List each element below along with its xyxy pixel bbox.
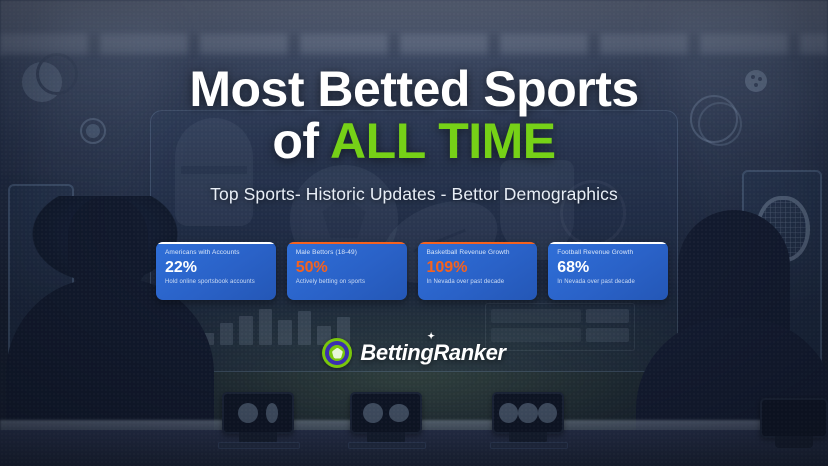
title-line-2: of ALL TIME — [0, 116, 828, 168]
stat-card-sublabel: Actively betting on sports — [296, 279, 398, 286]
page-title: Most Betted Sports of ALL TIME — [0, 64, 828, 167]
page-subtitle: Top Sports- Historic Updates - Bettor De… — [0, 184, 828, 205]
stat-card-value: 22% — [165, 259, 267, 277]
stat-card-label: Basketball Revenue Growth — [427, 249, 529, 257]
stat-card-value: 109% — [427, 259, 529, 277]
stat-card-list: Americans with Accounts 22% Hold online … — [156, 242, 668, 300]
stat-card-sublabel: Hold online sportsbook accounts — [165, 279, 267, 286]
title-line-2-prefix: of — [272, 113, 330, 169]
brand-name-part2: Ranker — [433, 340, 505, 365]
title-line-1: Most Betted Sports — [189, 61, 638, 117]
brand-logo[interactable]: BettingRanker — [0, 338, 828, 368]
stat-card-label: Football Revenue Growth — [557, 249, 659, 257]
brand-logo-text: BettingRanker — [360, 340, 505, 366]
stat-card[interactable]: Americans with Accounts 22% Hold online … — [156, 242, 276, 300]
stat-card[interactable]: Basketball Revenue Growth 109% In Nevada… — [418, 242, 538, 300]
stat-card-sublabel: In Nevada over past decade — [427, 279, 529, 286]
infographic-stage: Most Betted Sports of ALL TIME Top Sport… — [0, 0, 828, 466]
stat-card-label: Male Bettors (18-49) — [296, 249, 398, 257]
stat-card[interactable]: Male Bettors (18-49) 50% Actively bettin… — [287, 242, 407, 300]
stat-card[interactable]: Football Revenue Growth 68% In Nevada ov… — [548, 242, 668, 300]
brand-name-part1: Betting — [360, 340, 433, 365]
bettingranker-circle-logo-icon — [322, 338, 352, 368]
stat-card-label: Americans with Accounts — [165, 249, 267, 257]
title-line-2-accent: ALL TIME — [330, 113, 556, 169]
stat-card-value: 50% — [296, 259, 398, 277]
stat-card-value: 68% — [557, 259, 659, 277]
logo-pentagon-core — [332, 348, 343, 359]
foreground-content: Most Betted Sports of ALL TIME Top Sport… — [0, 0, 828, 466]
stat-card-sublabel: In Nevada over past decade — [557, 279, 659, 286]
